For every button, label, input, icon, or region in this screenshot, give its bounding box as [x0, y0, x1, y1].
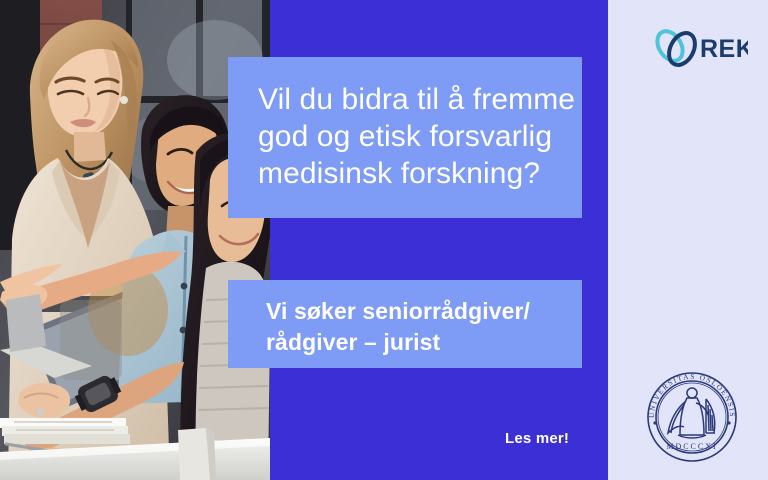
- uio-seal: UNIVERSITAS OSLOENSIS MDCCCXI: [640, 365, 744, 469]
- headline-card: Vil du bidra til å fremme god og etisk f…: [228, 57, 582, 218]
- rek-logo[interactable]: REK: [648, 24, 748, 72]
- job-title-line-2: rådgiver – jurist: [266, 327, 562, 358]
- headline-line-2: god og etisk forsvarlig: [258, 118, 556, 155]
- headline-line-3: medisinsk forskning?: [258, 155, 556, 192]
- headline-line-1: Vil du bidra til å fremme: [258, 81, 556, 118]
- recruitment-banner: Vil du bidra til å fremme god og etisk f…: [0, 0, 768, 480]
- read-more-link[interactable]: Les mer!: [505, 430, 569, 447]
- job-title-card: Vi søker seniorrådgiver/ rådgiver – juri…: [228, 280, 582, 368]
- seal-top-text: UNIVERSITAS OSLOENSIS: [647, 372, 737, 418]
- rek-interlocking-rings-icon: [652, 27, 700, 70]
- job-title-line-1: Vi søker seniorrådgiver/: [266, 296, 562, 327]
- seal-bottom-text: MDCCCXI: [666, 442, 717, 451]
- rek-wordmark: REK: [700, 35, 748, 63]
